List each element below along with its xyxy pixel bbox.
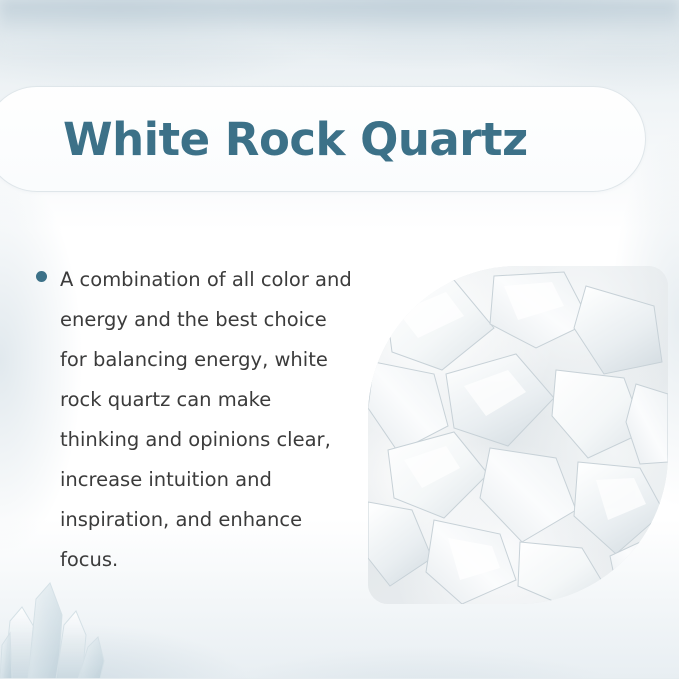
product-photo [368,266,668,604]
bullet-dot-icon [36,271,47,282]
background-mist-topline [0,0,679,60]
quartz-shards-illustration [368,266,668,604]
crystal-cluster-icon [0,549,150,679]
title-card: White Rock Quartz [0,86,646,192]
page-title: White Rock Quartz [63,113,528,166]
bullet-item-text: A combination of all color and energy an… [60,260,356,580]
bullet-list: A combination of all color and energy an… [36,260,366,580]
product-infographic-page: White Rock Quartz A combination of all c… [0,0,679,679]
